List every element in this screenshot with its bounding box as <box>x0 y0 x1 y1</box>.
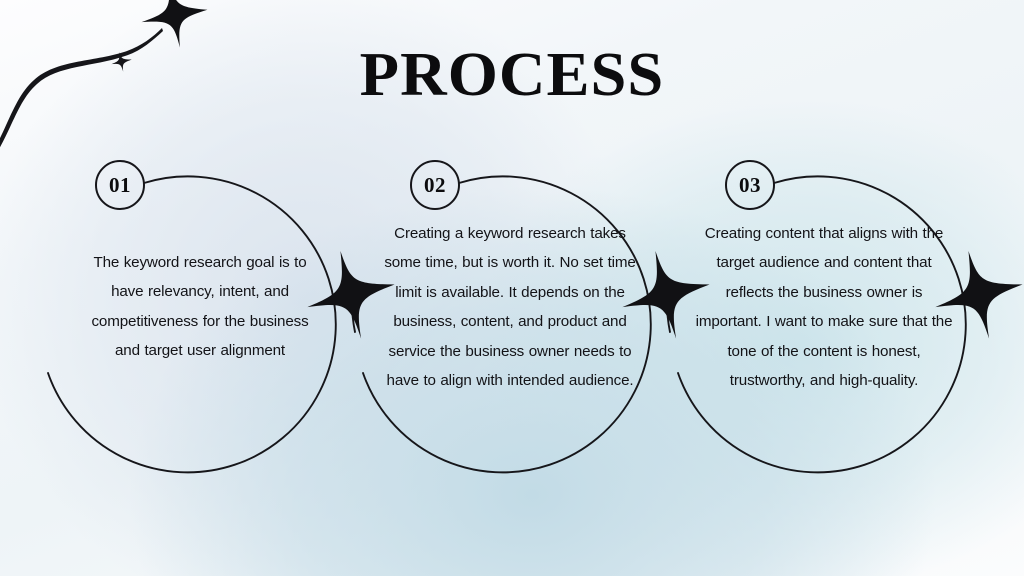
step-badge-01-label: 01 <box>109 175 131 196</box>
step-badge-01: 01 <box>95 160 145 210</box>
step-badge-03-label: 03 <box>739 175 761 196</box>
step-badge-03: 03 <box>725 160 775 210</box>
page-title: PROCESS <box>0 44 1024 106</box>
step-badge-02: 02 <box>410 160 460 210</box>
step-badge-02-label: 02 <box>424 175 446 196</box>
step-body-03: Creating content that aligns with the ta… <box>694 219 954 395</box>
step-body-02: Creating a keyword research takes some t… <box>380 219 640 395</box>
slide-canvas: PROCESS 01 02 03 The keyword research go… <box>0 0 1024 576</box>
step-body-01: The keyword research goal is to have rel… <box>88 248 312 366</box>
